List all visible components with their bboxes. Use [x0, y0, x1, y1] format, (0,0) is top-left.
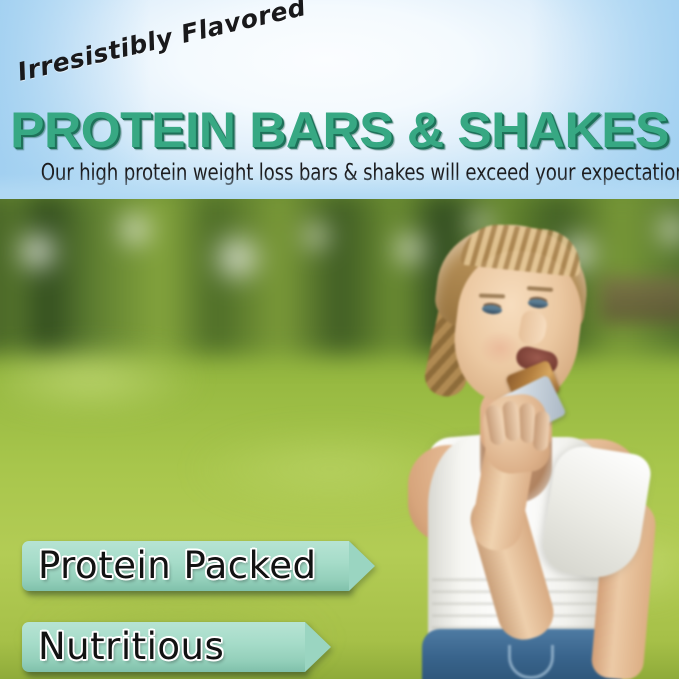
banner-label: Nutritious: [38, 627, 224, 667]
hero-photo: Protein Packed Nutritious Great Taste: [0, 199, 679, 679]
banner-protein-packed: Protein Packed: [22, 541, 349, 591]
cheek: [480, 331, 520, 365]
eyebrow-left: [479, 294, 505, 299]
header-band: Irresistibly Flavored PROTEIN BARS & SHA…: [0, 0, 679, 200]
subtitle-text: Our high protein weight loss bars & shak…: [41, 160, 639, 186]
woman-figure: [352, 199, 679, 679]
banner-label: Protein Packed: [38, 546, 316, 586]
page-title: PROTEIN BARS & SHAKES: [0, 104, 679, 156]
product-banner-ad: Irresistibly Flavored PROTEIN BARS & SHA…: [0, 0, 679, 679]
finger: [533, 411, 551, 452]
tagline-irresistibly-flavored: Irresistibly Flavored: [15, 0, 309, 87]
banner-nutritious: Nutritious: [22, 622, 305, 672]
